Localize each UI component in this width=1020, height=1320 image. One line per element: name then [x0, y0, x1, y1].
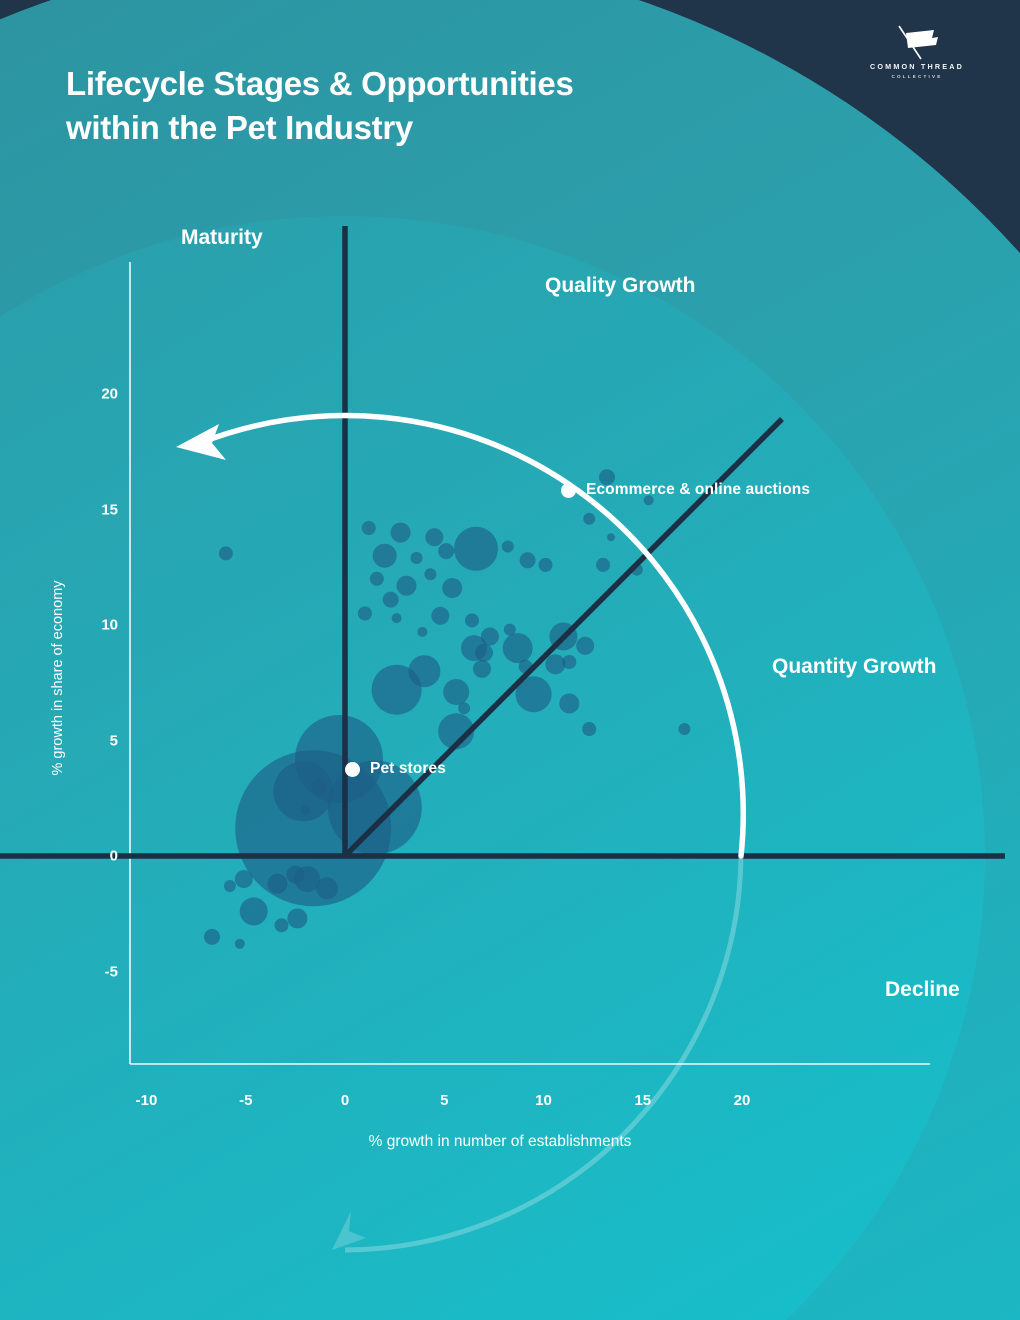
flag-icon — [888, 24, 946, 60]
bubble-point — [240, 897, 268, 925]
bubble-point — [235, 870, 253, 888]
logo-wordmark: COMMON THREAD — [862, 62, 972, 71]
y-tick-label: -5 — [105, 963, 118, 980]
bubble-point — [520, 552, 536, 568]
bubble-point — [411, 552, 423, 564]
bubble-point — [383, 592, 399, 608]
annotation-marker-dot — [345, 762, 360, 777]
bubble-point — [224, 880, 236, 892]
bubble-point — [475, 644, 493, 662]
annotation-label: Ecommerce & online auctions — [586, 481, 810, 499]
bubble-point — [287, 908, 307, 928]
infographic-root: Maturity Quality Growth Quantity Growth … — [0, 0, 1020, 1320]
logo-subtext: COLLECTIVE — [862, 74, 972, 79]
bubble-point — [465, 613, 479, 627]
x-tick-label: 5 — [440, 1092, 448, 1109]
annotation-marker-dot — [561, 483, 576, 498]
bubble-point — [311, 779, 327, 795]
annotation-pet-stores: Pet stores — [345, 760, 446, 778]
annotation-label: Pet stores — [370, 760, 446, 778]
y-axis-title: % growth in share of economy — [50, 580, 66, 775]
x-tick-label: -5 — [239, 1092, 252, 1109]
bubble-point — [300, 805, 310, 815]
quadrant-label-quantity-growth: Quantity Growth — [772, 655, 937, 679]
quadrant-label-maturity: Maturity — [181, 226, 263, 250]
bubble-point — [362, 521, 376, 535]
x-tick-label: 20 — [734, 1092, 751, 1109]
bubble-point — [417, 627, 427, 637]
bubble-point — [370, 572, 384, 586]
bubble-point — [596, 558, 610, 572]
bubble-point — [454, 527, 498, 571]
bubble-point — [358, 607, 372, 621]
x-axis-title: % growth in number of establishments — [369, 1133, 632, 1151]
bubble-point — [438, 543, 454, 559]
bubble-point — [545, 654, 565, 674]
bubble-point — [424, 568, 436, 580]
y-tick-label: 20 — [101, 386, 118, 403]
x-tick-label: -10 — [136, 1092, 158, 1109]
bubble-point — [582, 722, 596, 736]
x-tick-label: 0 — [341, 1092, 349, 1109]
bubble-point — [442, 578, 462, 598]
bubble-point — [425, 528, 443, 546]
bubble-point — [458, 702, 470, 714]
bubble-point — [268, 874, 288, 894]
bubble-point — [559, 694, 579, 714]
bubble-point — [607, 533, 615, 541]
bubble-point — [372, 665, 422, 715]
bubble-point — [204, 929, 220, 945]
bubble-point — [431, 607, 449, 625]
bubble-point — [502, 541, 514, 553]
bubble-point — [576, 637, 594, 655]
x-tick-label: 10 — [535, 1092, 552, 1109]
bubble-point — [539, 558, 553, 572]
bubble-point — [443, 679, 469, 705]
bubble-point — [397, 576, 417, 596]
y-tick-label: 15 — [101, 501, 118, 518]
quadrant-label-decline: Decline — [885, 978, 960, 1002]
bubble-point — [562, 655, 576, 669]
header: Lifecycle Stages & Opportunities within … — [0, 0, 1020, 190]
bubble-point — [316, 877, 338, 899]
bubble-point — [583, 513, 595, 525]
bubble-point — [678, 723, 690, 735]
x-tick-label: 15 — [634, 1092, 651, 1109]
brand-logo[interactable]: COMMON THREAD COLLECTIVE — [862, 22, 972, 84]
bubble-point — [373, 544, 397, 568]
bubble-point — [275, 918, 289, 932]
bubble-point — [391, 523, 411, 543]
bubble-point — [473, 660, 491, 678]
y-tick-label: 10 — [101, 617, 118, 634]
bubble-point — [392, 613, 402, 623]
bubble-point — [503, 633, 533, 663]
page-title: Lifecycle Stages & Opportunities within … — [66, 62, 574, 149]
quadrant-label-quality-growth: Quality Growth — [545, 274, 696, 298]
y-tick-label: 0 — [110, 848, 118, 865]
y-tick-label: 5 — [110, 732, 118, 749]
bubble-point — [235, 939, 245, 949]
bubble-point — [219, 546, 233, 560]
annotation-ecommerce: Ecommerce & online auctions — [561, 481, 810, 499]
